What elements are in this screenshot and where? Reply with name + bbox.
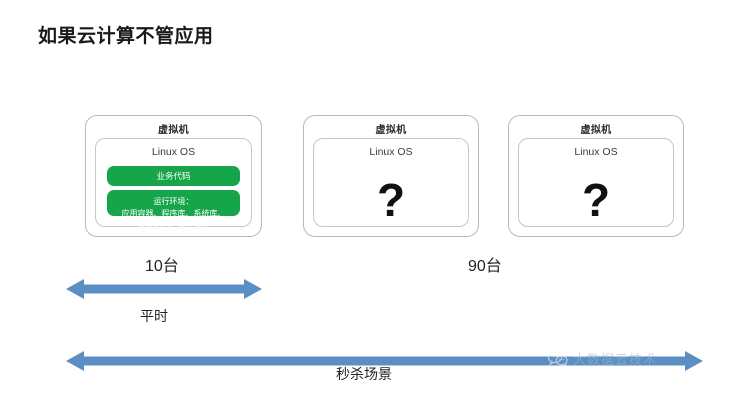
- question-mark-icon: ?: [314, 177, 468, 223]
- vm-card-1-os-label: Linux OS: [96, 146, 251, 158]
- slide-canvas: 如果云计算不管应用 虚拟机 Linux OS 业务代码 运行环境： 应用容器、程…: [0, 0, 741, 401]
- arrow-peak-caption: 秒杀场景: [336, 364, 392, 384]
- runtime-line-2: 应用容器、程序库、系统库、: [107, 208, 240, 220]
- business-code-block: 业务代码: [107, 166, 240, 186]
- vm-card-1-title: 虚拟机: [86, 121, 261, 136]
- page-title: 如果云计算不管应用: [38, 21, 214, 48]
- vm-card-3-title: 虚拟机: [509, 121, 683, 136]
- vm-card-1-inner-os-box: Linux OS 业务代码 运行环境： 应用容器、程序库、系统库、 目录结构、文…: [95, 138, 252, 227]
- arrow-normal: [66, 278, 262, 300]
- vm-card-3-os-label: Linux OS: [519, 146, 673, 158]
- vm-card-2-inner-os-box: Linux OS ?: [313, 138, 469, 227]
- vm-card-2-os-label: Linux OS: [314, 146, 468, 158]
- vm-card-1: 虚拟机 Linux OS 业务代码 运行环境： 应用容器、程序库、系统库、 目录…: [85, 115, 262, 237]
- arrow-normal-shape: [66, 278, 262, 300]
- vm-card-2-title: 虚拟机: [304, 121, 478, 136]
- runtime-line-3: 目录结构、文件权限: [107, 219, 240, 231]
- question-mark-icon: ?: [519, 177, 673, 223]
- runtime-environment-block: 运行环境： 应用容器、程序库、系统库、 目录结构、文件权限: [107, 190, 240, 216]
- count-label-right: 90台: [468, 252, 502, 276]
- count-label-left: 10台: [145, 252, 179, 276]
- arrow-normal-caption: 平时: [140, 306, 168, 326]
- vm-card-3: 虚拟机 Linux OS ?: [508, 115, 684, 237]
- runtime-line-1: 运行环境：: [107, 196, 240, 208]
- vm-card-3-inner-os-box: Linux OS ?: [518, 138, 674, 227]
- vm-card-2: 虚拟机 Linux OS ?: [303, 115, 479, 237]
